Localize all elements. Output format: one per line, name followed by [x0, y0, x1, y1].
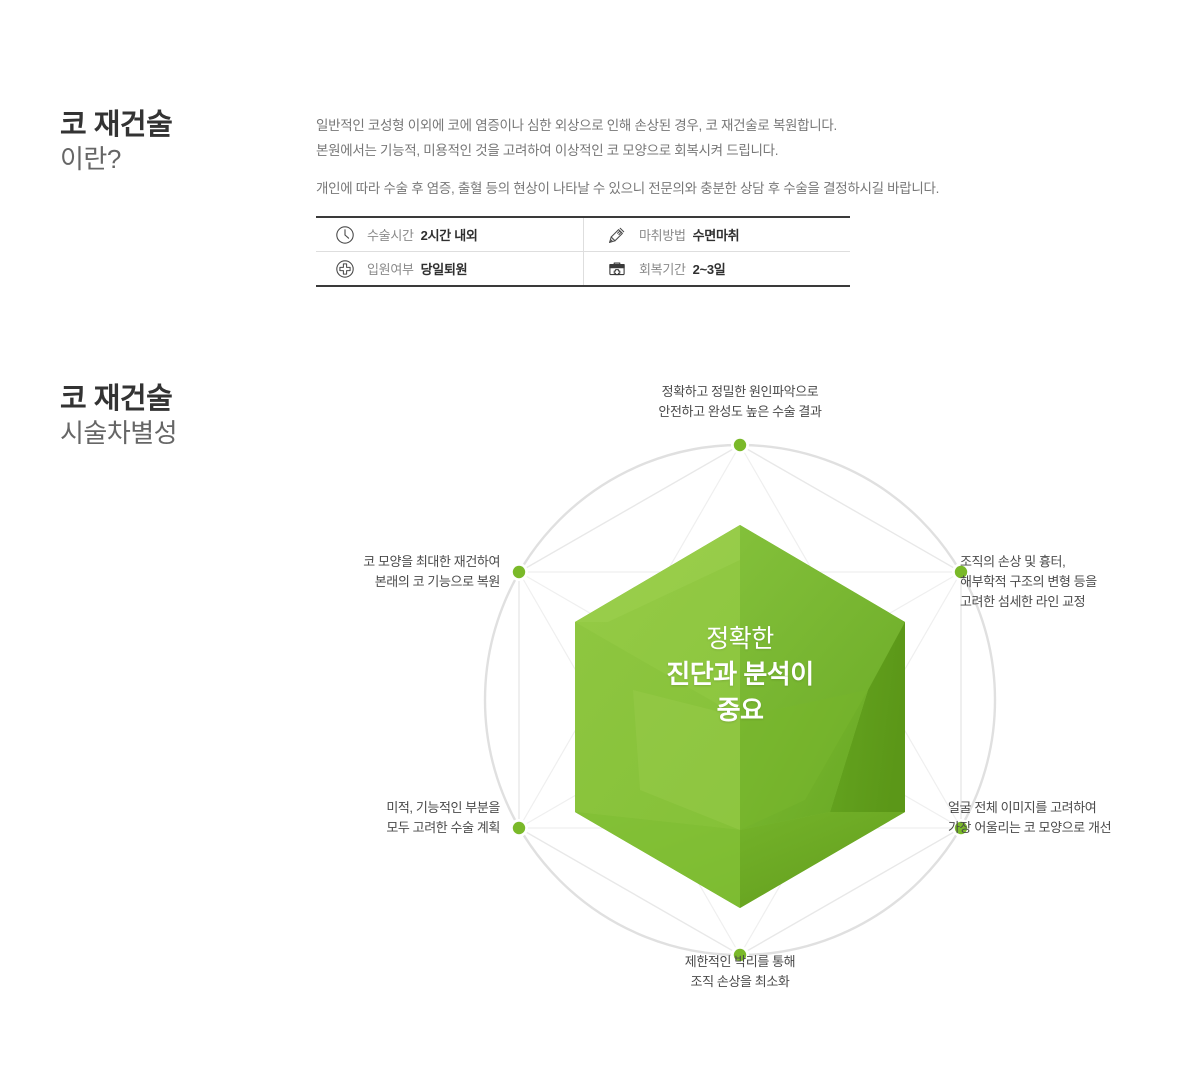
info-label: 입원여부 [367, 259, 414, 278]
info-label: 마취방법 [639, 225, 686, 244]
intro-paragraph-1-line-2: 본원에서는 기능적, 미용적인 것을 고려하여 이상적인 코 모양으로 회복시켜… [316, 138, 1016, 163]
node-label-line: 조직 손상을 최소화 [620, 972, 860, 992]
node-label-line: 제한적인 박리를 통해 [620, 952, 860, 972]
section-1-heading-line1: 코 재건술 [60, 108, 172, 142]
node-label-upper-left: 코 모양을 최대한 재건하여 본래의 코 기능으로 복원 [265, 552, 500, 592]
hexagon-diagram-svg [0, 360, 1200, 1060]
node-label-lower-left: 미적, 기능적인 부분을 모두 고려한 수술 계획 [285, 798, 500, 838]
info-label: 회복기간 [639, 259, 686, 278]
info-label: 수술시간 [367, 225, 414, 244]
clock-icon [334, 224, 356, 246]
node-label-upper-right: 조직의 손상 및 흉터, 해부학적 구조의 변형 등을 고려한 섬세한 라인 교… [960, 552, 1190, 612]
info-cell-surgery-time: 수술시간 2시간 내외 [316, 218, 583, 251]
intro-paragraph-1-line-1: 일반적인 코성형 이외에 코에 염증이나 심한 외상으로 인해 손상된 경우, … [316, 113, 1016, 138]
section-1-intro: 일반적인 코성형 이외에 코에 염증이나 심한 외상으로 인해 손상된 경우, … [316, 113, 1016, 201]
node-label-bottom: 제한적인 박리를 통해 조직 손상을 최소화 [620, 952, 860, 992]
intro-paragraph-2: 개인에 따라 수술 후 염증, 출혈 등의 현상이 나타날 수 있으니 전문의와… [316, 176, 1016, 201]
table-row: 수술시간 2시간 내외 마취 [316, 218, 850, 252]
node-label-line: 얼굴 전체 이미지를 고려하여 [948, 798, 1198, 818]
section-1-heading: 코 재건술 이란? [60, 108, 172, 175]
node-label-line: 모두 고려한 수술 계획 [285, 818, 500, 838]
medical-kit-icon [606, 258, 628, 280]
info-value: 당일퇴원 [421, 259, 468, 278]
table-row: 입원여부 당일퇴원 회복기간 2~3일 [316, 252, 850, 285]
hexagon-body [575, 525, 905, 908]
paragraph-spacer [316, 163, 1016, 176]
surgery-info-table: 수술시간 2시간 내외 마취 [316, 216, 850, 287]
node-label-line: 고려한 섬세한 라인 교정 [960, 592, 1190, 612]
node-label-line: 본래의 코 기능으로 복원 [265, 572, 500, 592]
node-label-line: 가장 어울리는 코 모양으로 개선 [948, 818, 1198, 838]
info-value: 2시간 내외 [421, 225, 478, 244]
info-cell-recovery: 회복기간 2~3일 [583, 252, 850, 285]
info-cell-anesthesia: 마취방법 수면마취 [583, 218, 850, 251]
node-label-top: 정확하고 정밀한 원인파악으로 안전하고 완성도 높은 수술 결과 [605, 382, 875, 422]
node-label-lower-right: 얼굴 전체 이미지를 고려하여 가장 어울리는 코 모양으로 개선 [948, 798, 1198, 838]
node-label-line: 해부학적 구조의 변형 등을 [960, 572, 1190, 592]
page-root: 코 재건술 이란? 일반적인 코성형 이외에 코에 염증이나 심한 외상으로 인… [0, 0, 1200, 1087]
node-label-line: 미적, 기능적인 부분을 [285, 798, 500, 818]
node-label-line: 조직의 손상 및 흉터, [960, 552, 1190, 572]
hexagon-diagram: 정확한 진단과 분석이 중요 정확하고 정밀한 원인파악으로 안전하고 완성도 … [0, 360, 1200, 1060]
node-label-line: 안전하고 완성도 높은 수술 결과 [605, 402, 875, 422]
section-1-heading-line2: 이란? [60, 144, 172, 175]
node-label-line: 정확하고 정밀한 원인파악으로 [605, 382, 875, 402]
info-cell-hospitalization: 입원여부 당일퇴원 [316, 252, 583, 285]
info-value: 2~3일 [693, 259, 726, 278]
syringe-icon [606, 224, 628, 246]
circle-plus-icon [334, 258, 356, 280]
node-label-line: 코 모양을 최대한 재건하여 [265, 552, 500, 572]
info-value: 수면마취 [693, 225, 740, 244]
